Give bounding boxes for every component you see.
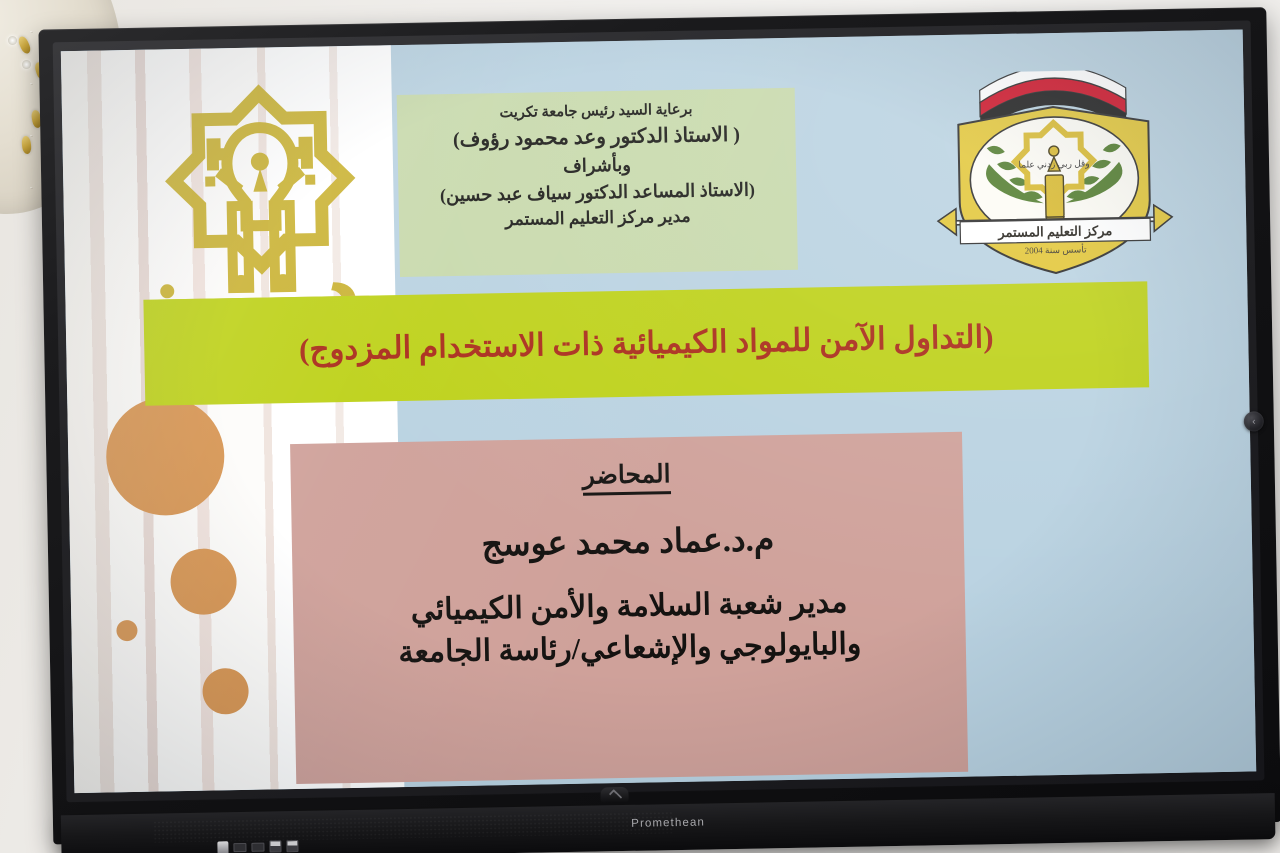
crystal-stud-icon [8, 36, 17, 45]
port-sd-card[interactable] [269, 840, 281, 852]
lecturer-label: المحاضر [583, 459, 671, 496]
display-bezel: جامعة تكريت [38, 7, 1280, 844]
sponsor-box: برعاية السيد رئيس جامعة تكريت ( الاستاذ … [397, 88, 798, 277]
display-port-strip[interactable] [217, 836, 337, 853]
display-side-button[interactable]: ‹ [1244, 411, 1264, 431]
port-aux[interactable] [286, 840, 298, 852]
chevron-left-icon: ‹ [1252, 416, 1256, 427]
center-logo-founded-text: تأسس سنة 2004 [1025, 242, 1088, 256]
display-camera-module [600, 787, 628, 803]
port-hdmi[interactable] [251, 842, 264, 851]
slide-title: (التداول الآمن للمواد الكيميائية ذات الا… [285, 318, 1008, 370]
usb-drive-icon [217, 841, 228, 853]
promethean-interactive-display[interactable]: جامعة تكريت [38, 7, 1280, 853]
presentation-slide[interactable]: جامعة تكريت [61, 30, 1256, 794]
port-usb[interactable] [233, 842, 246, 851]
slide-title-band: (التداول الآمن للمواد الكيميائية ذات الا… [143, 281, 1149, 405]
crystal-stud-icon [22, 60, 31, 69]
display-screen[interactable]: جامعة تكريت [61, 30, 1256, 794]
room-scene: جامعة تكريت [0, 0, 1280, 853]
speaker-box: المحاضر م.د.عماد محمد عوسج مدير شعبة الس… [290, 432, 968, 784]
continuing-education-center-logo-icon: وقل ربي زدني علما مركز التعليم المستمر ت… [927, 69, 1181, 284]
tikrit-university-logo-icon: جامعة تكريت [133, 73, 388, 328]
